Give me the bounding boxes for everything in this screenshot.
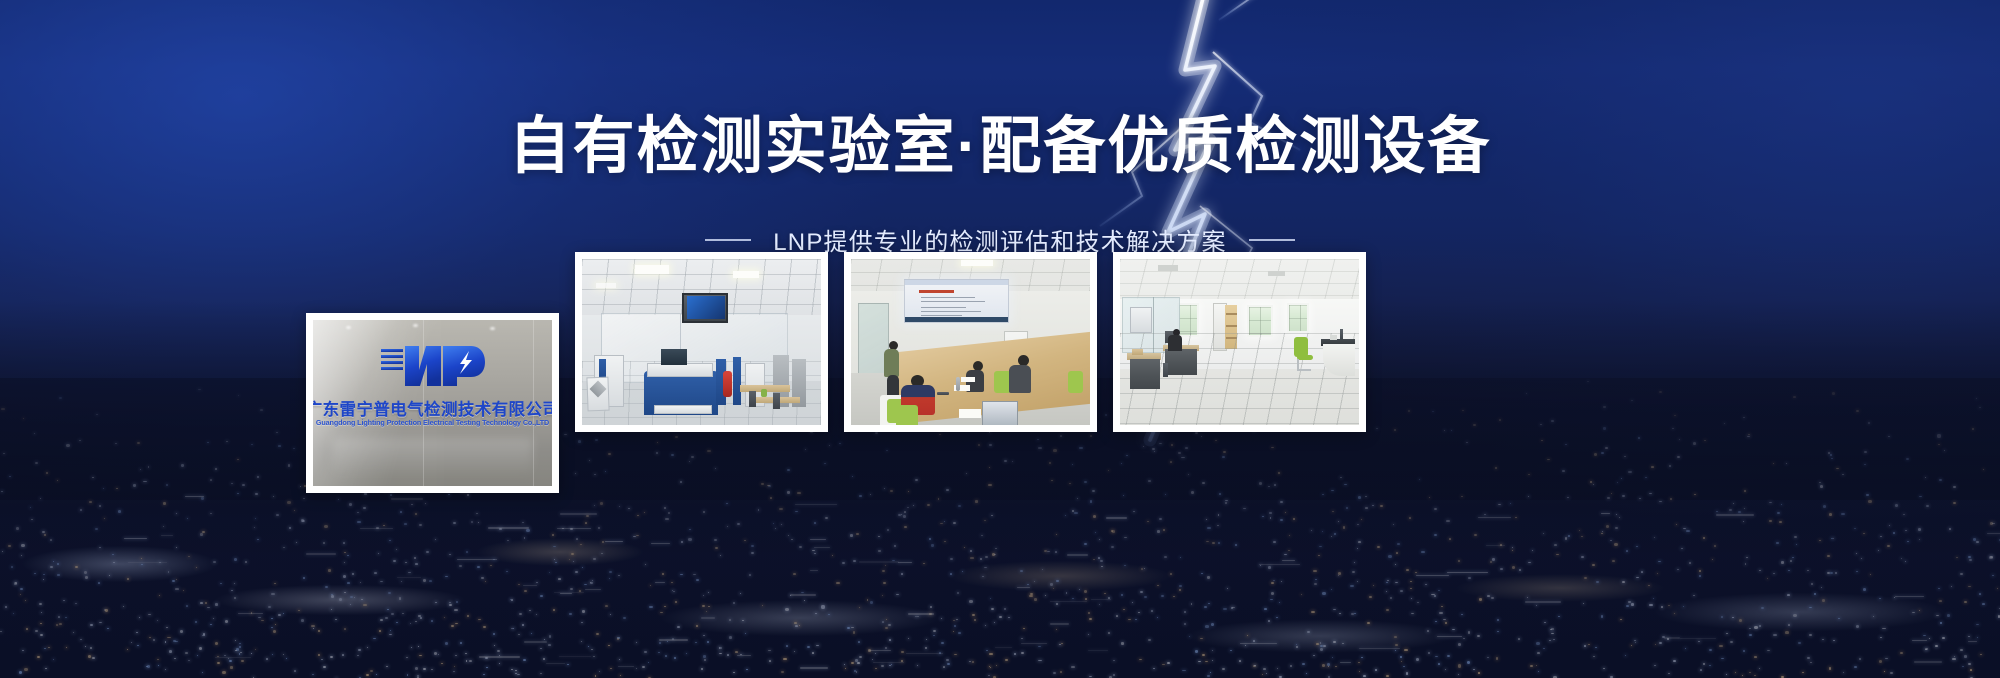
chair [749, 391, 756, 407]
window [1177, 303, 1199, 337]
chair-cushion [896, 405, 918, 425]
ceiling-light [733, 271, 759, 278]
projection-screen [904, 279, 1009, 323]
ceiling-light [635, 265, 669, 274]
ceiling-vent [1158, 265, 1178, 271]
ceiling-vent [1268, 271, 1285, 276]
desk-box [1132, 349, 1143, 355]
hero-banner: 自有检测实验室·配备优质检测设备 LNP提供专业的检测评估和技术解决方案 [0, 0, 2000, 678]
person-body [884, 349, 899, 377]
test-rack [733, 357, 741, 405]
gallery-card-training-meeting-room[interactable] [844, 252, 1097, 432]
photo-testing-laboratory [582, 259, 821, 425]
slide-title-line [919, 290, 954, 293]
window [1287, 303, 1309, 333]
slide-toolbar [905, 280, 1008, 285]
counter-item [1330, 335, 1337, 340]
page-title: 自有检测实验室·配备优质检测设备 [0, 112, 2000, 181]
photo-gallery: 广东雷宁普电气检测技术有限公司 Guangdong Lighting Prote… [306, 312, 1648, 548]
slide-text-line [921, 301, 985, 302]
gallery-card-company-signage[interactable]: 广东雷宁普电气检测技术有限公司 Guangdong Lighting Prote… [306, 313, 559, 493]
thermos [956, 377, 960, 391]
chair-cushion [1068, 371, 1083, 393]
document [961, 377, 975, 382]
console-top [647, 363, 713, 377]
ceiling-light-dot [490, 327, 495, 330]
laptop-screen [982, 401, 1018, 425]
slide-text-line [921, 297, 975, 298]
ceiling [1120, 259, 1359, 301]
lnp-logo-icon [379, 340, 487, 392]
signage-company-name-en: Guangdong Lighting Protection Electrical… [316, 418, 549, 427]
remote-control [937, 392, 949, 395]
desk [1130, 359, 1160, 389]
signage-company-name-cn: 广东雷宁普电气检测技术有限公司 [313, 396, 552, 420]
counter-item [1340, 329, 1343, 340]
red-cylinder [723, 371, 732, 397]
em-dash-rule-left-icon [705, 239, 751, 241]
slide-text-line [921, 311, 981, 312]
em-dash-rule-right-icon [1249, 239, 1295, 241]
reception-counter [1323, 344, 1355, 376]
monitor-screen [687, 296, 725, 319]
ceiling-light [961, 260, 993, 266]
gallery-card-office-area[interactable] [1113, 252, 1366, 432]
photo-office-area [1120, 259, 1359, 425]
visitor-chair-back [1294, 337, 1308, 357]
wall-reflection [332, 438, 533, 486]
console-monitor [661, 349, 687, 365]
chair-frame [1297, 359, 1311, 371]
chair [773, 393, 780, 409]
desk [1165, 349, 1197, 375]
person-legs [887, 375, 899, 397]
office-chair [1163, 363, 1168, 377]
ceiling-light [596, 283, 616, 288]
shelf-line [1226, 325, 1237, 327]
console-base [654, 405, 712, 414]
equipment-behind-glass [1130, 307, 1152, 333]
slide-text-line [921, 307, 966, 308]
shelf-line [1226, 313, 1237, 315]
gallery-card-testing-laboratory[interactable] [575, 252, 828, 432]
person-body [1009, 365, 1031, 393]
photo-company-signage: 广东雷宁普电气检测技术有限公司 Guangdong Lighting Prote… [313, 320, 552, 486]
document [959, 409, 981, 418]
person-body [1168, 335, 1182, 351]
chair-back [761, 389, 767, 397]
photo-training-meeting-room [851, 259, 1090, 425]
banner-content: 自有检测实验室·配备优质检测设备 LNP提供专业的检测评估和技术解决方案 [0, 0, 2000, 678]
slide-taskbar [905, 317, 1008, 322]
